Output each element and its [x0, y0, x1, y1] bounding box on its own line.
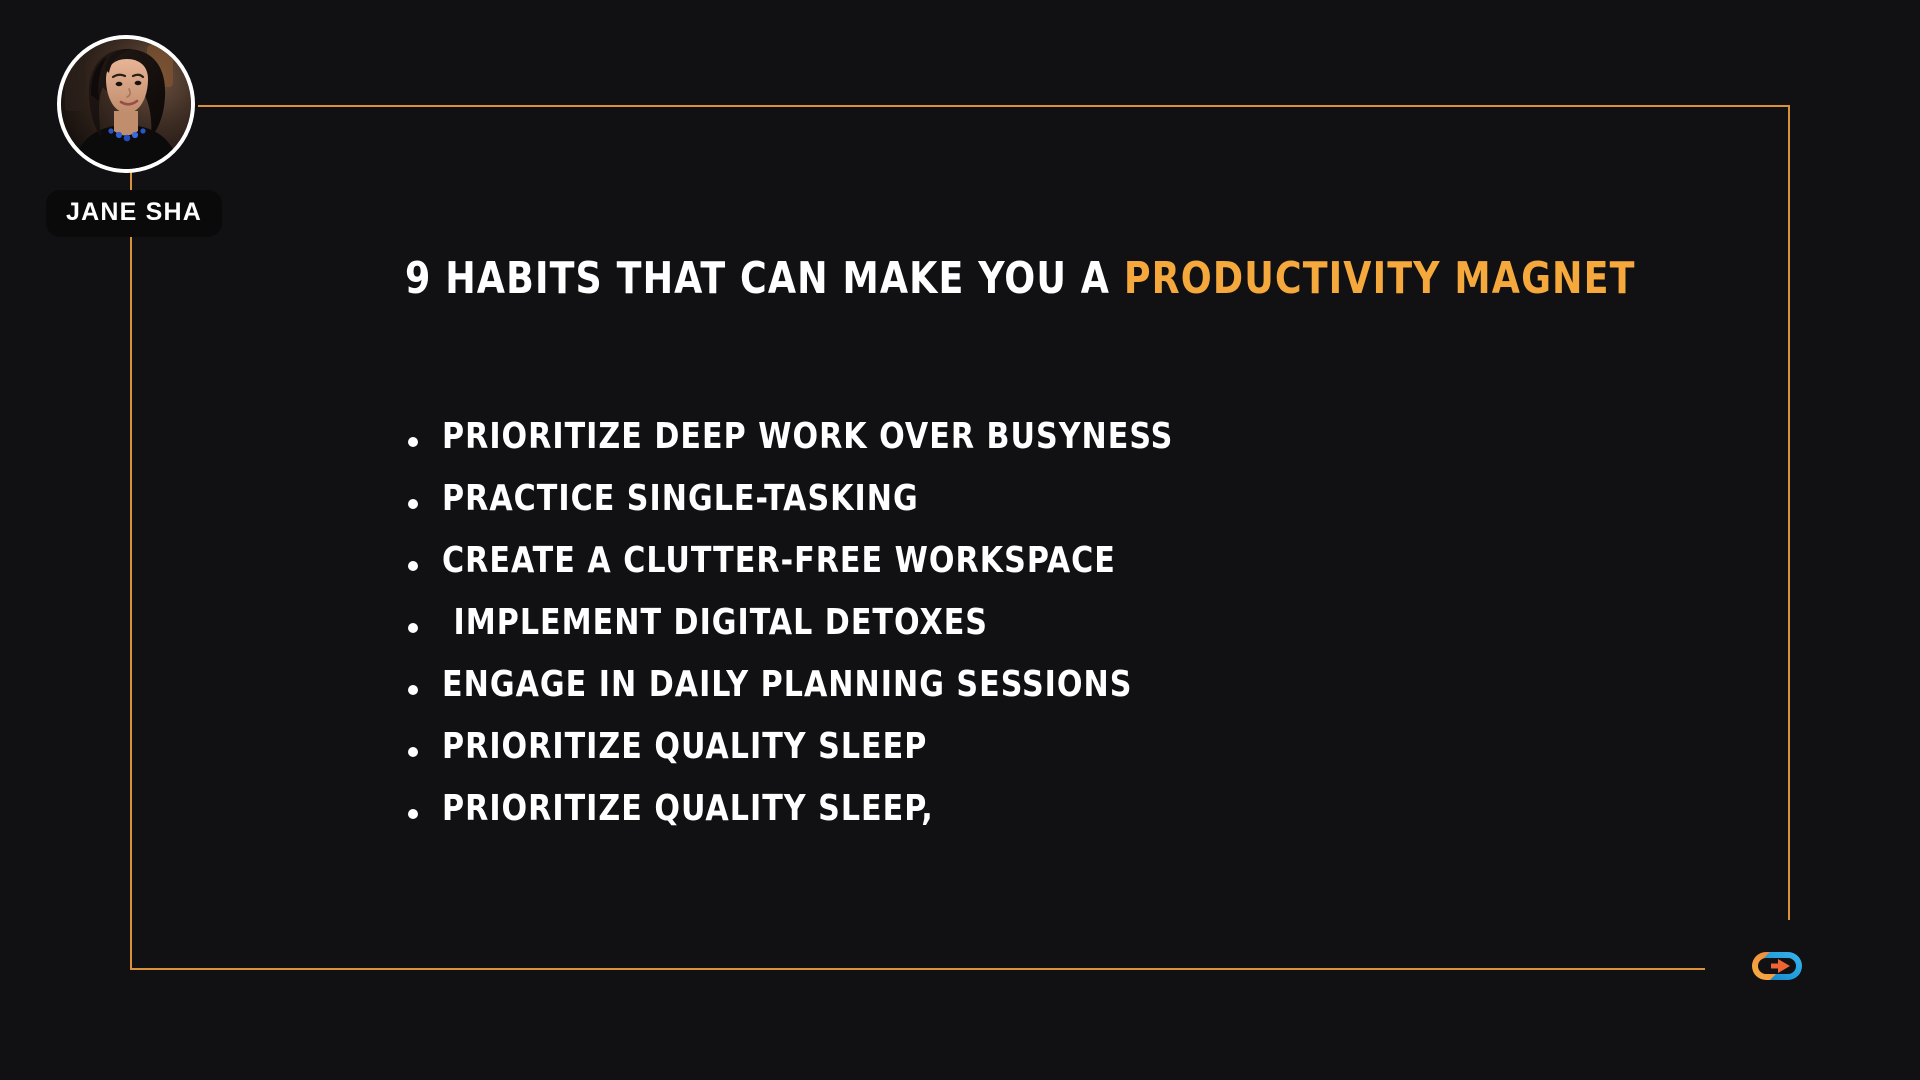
list-item: PRIORITIZE QUALITY SLEEP,	[408, 787, 1708, 849]
avatar-photo	[61, 39, 191, 169]
bullet-dot-icon	[408, 747, 418, 757]
bullet-dot-icon	[408, 499, 418, 509]
bullet-dot-icon	[408, 623, 418, 633]
bullet-dot-icon	[408, 561, 418, 571]
habits-list: PRIORITIZE DEEP WORK OVER BUSYNESS PRACT…	[408, 415, 1708, 849]
page-title-accent: PRODUCTIVITY MAGNET	[1124, 253, 1636, 304]
list-item-label: CREATE A CLUTTER-FREE WORKSPACE	[442, 539, 1116, 582]
list-item-label: PRIORITIZE QUALITY SLEEP	[442, 725, 927, 768]
list-item-label: PRIORITIZE QUALITY SLEEP,	[442, 787, 934, 830]
list-item-label: PRIORITIZE DEEP WORK OVER BUSYNESS	[442, 415, 1173, 458]
frame-line-right	[1788, 105, 1790, 920]
list-item: PRIORITIZE QUALITY SLEEP	[408, 725, 1708, 787]
slide-canvas: JANE SHA 9 HABITS THAT CAN MAKE YOU A PR…	[0, 0, 1920, 1080]
list-item: IMPLEMENT DIGITAL DETOXES	[408, 601, 1708, 663]
bullet-dot-icon	[408, 685, 418, 695]
list-item: PRACTICE SINGLE-TASKING	[408, 477, 1708, 539]
list-item-label: ENGAGE IN DAILY PLANNING SESSIONS	[442, 663, 1132, 706]
list-item-label: IMPLEMENT DIGITAL DETOXES	[442, 601, 988, 644]
list-item: CREATE A CLUTTER-FREE WORKSPACE	[408, 539, 1708, 601]
frame-line-bottom	[130, 968, 1705, 970]
frame-line-top	[198, 105, 1790, 107]
name-badge: JANE SHA	[46, 190, 222, 237]
list-item: ENGAGE IN DAILY PLANNING SESSIONS	[408, 663, 1708, 725]
page-title: 9 HABITS THAT CAN MAKE YOU A PRODUCTIVIT…	[405, 255, 1619, 303]
bullet-dot-icon	[408, 809, 418, 819]
name-badge-label: JANE SHA	[66, 200, 202, 225]
list-item-label: PRACTICE SINGLE-TASKING	[442, 477, 919, 520]
avatar	[57, 35, 195, 173]
page-title-primary: 9 HABITS THAT CAN MAKE YOU A	[405, 253, 1124, 304]
list-item: PRIORITIZE DEEP WORK OVER BUSYNESS	[408, 415, 1708, 477]
brand-logo-icon	[1738, 940, 1816, 992]
bullet-dot-icon	[408, 437, 418, 447]
